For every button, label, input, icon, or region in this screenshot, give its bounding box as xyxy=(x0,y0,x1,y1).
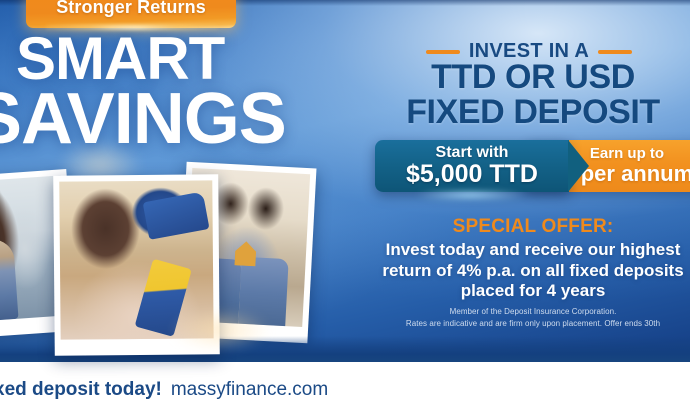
start-amount-pill: Start with $5,000 TTD xyxy=(375,140,569,192)
pill-glow-effect xyxy=(395,190,545,200)
hero-title: SMART SAVINGS xyxy=(0,33,316,151)
special-offer-line-3: placed for 4 years xyxy=(368,281,690,302)
headline: TTD OR USD FIXED DEPOSIT xyxy=(368,60,690,129)
special-offer-title: SPECIAL OFFER: xyxy=(368,216,690,238)
stronger-returns-label: Stronger Returns xyxy=(56,0,206,19)
advertisement-banner: Stronger Returns SMART SAVINGS INVEST IN… xyxy=(0,0,690,418)
start-amount-pill-line-1: Start with xyxy=(375,140,569,162)
dash-left-icon xyxy=(426,50,460,54)
start-amount-pill-line-2: $5,000 TTD xyxy=(375,160,569,189)
headline-line-2: FIXED DEPOSIT xyxy=(368,95,690,130)
photo-mother-and-graduate-daughter xyxy=(53,174,220,355)
special-offer-block: SPECIAL OFFER: Invest today and receive … xyxy=(368,216,690,302)
footer-website-link[interactable]: massyfinance.com xyxy=(171,379,328,401)
offer-panel: INVEST IN A TTD OR USD FIXED DEPOSIT Ear… xyxy=(368,0,690,362)
hero-line-smart: SMART xyxy=(16,33,316,86)
headline-line-1: TTD OR USD xyxy=(368,60,690,95)
fine-print: Member of the Deposit Insurance Corporat… xyxy=(368,306,690,329)
fine-print-line-1: Member of the Deposit Insurance Corporat… xyxy=(368,306,690,318)
hero-line-savings: SAVINGS xyxy=(0,88,316,151)
offer-pills: Earn up to 4% per annum Start with $5,00… xyxy=(375,140,690,192)
footer-cta-text: xed deposit today! xyxy=(0,379,162,401)
dash-right-icon xyxy=(598,50,632,54)
footer-bar: xed deposit today! massyfinance.com xyxy=(0,362,690,418)
fine-print-line-2: Rates are indicative and are firm only u… xyxy=(368,318,690,330)
special-offer-line-1: Invest today and receive our highest xyxy=(368,240,690,261)
photo-collage xyxy=(0,165,330,360)
special-offer-line-2: return of 4% p.a. on all fixed deposits xyxy=(368,261,690,282)
